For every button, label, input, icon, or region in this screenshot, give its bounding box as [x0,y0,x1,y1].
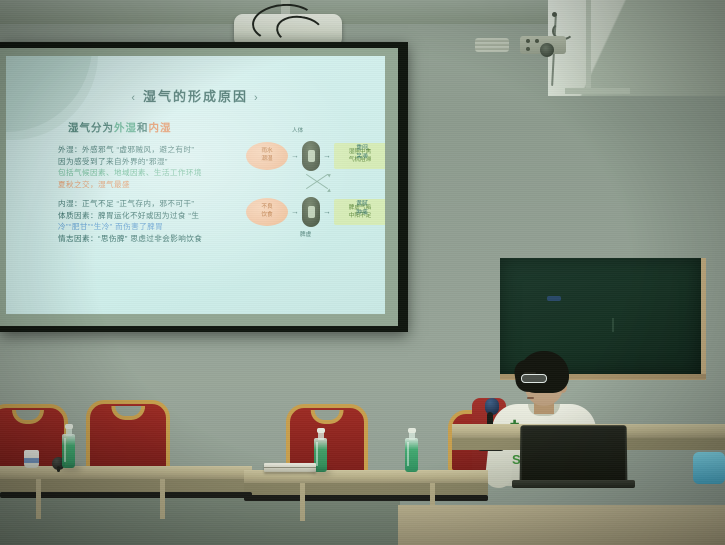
cross-arrow-a-tip [327,189,332,194]
person-glasses [521,374,547,383]
water-bottle-1 [62,424,75,468]
title-bracket-left: ‹ [125,92,143,104]
bottle-3-cap [408,428,416,433]
projector-led-2 [535,39,539,43]
bottle-2-highlight [316,442,318,466]
diagram-source-diet: 不良 饮食 [246,198,288,226]
title-bracket-right: › [248,92,266,104]
projector-led-1 [526,39,530,43]
projector-lens [540,43,554,57]
title-text: 湿气的形成原因 [143,89,248,104]
paper-cup [24,450,39,468]
diagram-arrow-4: → [323,208,331,216]
person-mouth [527,397,534,399]
diagram-arrow-3: → [291,208,299,216]
result-1-line-1: 重闷 [347,144,377,153]
cross-arrow-b-tip [327,173,332,178]
inner-damp-paragraph: 内湿：正气不足 “正气存内，邪不可干” 体质因素：脾胃运化不好或因为过食 “生 … [58,198,248,244]
outer-damp-line-4: 夏秋之交，湿气最盛 [58,179,243,191]
projected-slide: ‹湿气的形成原因› 湿气分为外湿和内湿 外湿：外感邪气 “虚邪贼风，避之有时” … [6,56,385,314]
slide-subheading: 湿气分为外湿和内湿 [68,120,172,135]
inner-damp-line-4: 情志因素：“思伤脾” 思虑过非会影响饮食 [58,233,248,245]
diagram-result-1: 重闷 呆滞 [347,144,377,161]
diagram-result-2: 黄腻 肿痛 [347,200,377,217]
outer-damp-line-2: 因为感受到了来自外界的“邪湿” [58,156,243,168]
result-2-line-2: 肿痛 [347,209,377,218]
diagram-body-label: 人体 [292,126,303,134]
slide-title: ‹湿气的形成原因› [6,86,385,105]
subheading-prefix: 湿气分为 [68,122,114,134]
laptop-screen [520,425,628,482]
outer-damp-line-3: 包括气候因素、地域因素、生活工作环境 [58,167,243,179]
classroom-photo: ‹湿气的形成原因› 湿气分为外湿和内湿 外湿：外感邪气 “虚邪贼风，避之有时” … [0,0,725,545]
bottle-2-cap [317,428,325,433]
blackboard-chalk-mark [612,318,614,332]
blue-bag [693,452,725,484]
source-rain-line-1: 雨水 [261,148,272,156]
beam-post [586,0,591,92]
desk-middle-bar [244,495,488,501]
desk-leg-2 [160,479,165,519]
projector-vent [475,38,509,52]
bottle-1-neck [66,428,72,436]
projector-led-3 [526,47,530,51]
inner-damp-line-3: 冷”“肥甘”“生冷” 而伤害了脾胃 [58,221,248,233]
ceiling-beam [548,0,725,96]
result-1-line-2: 呆滞 [347,153,377,162]
chair-center-left [86,400,170,474]
subheading-inner: 内湿 [149,122,172,134]
subheading-outer: 外湿 [114,122,137,134]
diagram-source-rain: 雨水 潮湿 [246,142,288,170]
desk-leg-1 [36,479,41,519]
bottle-3-highlight [407,442,409,466]
diagram-arrow-1: → [291,152,299,160]
bottle-2-shadow [312,470,332,475]
paper-stack-line [264,467,316,468]
laptop-base [512,480,635,488]
diagram-arrow-2: → [323,152,331,160]
paper-stack [264,463,316,472]
beam-foot [565,88,630,94]
bottle-1-shadow [60,466,82,471]
desk-leg-3 [300,483,305,521]
source-diet-line-1: 不良 [261,204,272,212]
bottle-3-neck [409,432,415,440]
diagram-body-icon-2 [302,197,320,227]
outer-damp-line-1: 外湿：外感邪气 “虚邪贼风，避之有时” [58,144,243,156]
water-bottle-3 [405,428,418,472]
wall-screw [552,12,557,17]
blackboard-magnet [547,296,561,301]
cup-band [24,458,39,463]
desk-front-left [0,466,252,479]
diagram-spleen-label: 脾虚 [300,230,311,238]
bottle-2-neck [318,432,324,440]
diagram-body-icon-1 [302,141,320,171]
bottle-1-cap [65,424,73,429]
subheading-mid: 和 [137,122,149,134]
source-rain-line-2: 潮湿 [261,156,272,164]
desk-foreground [398,505,725,545]
bottle-1-highlight [64,438,66,462]
outer-damp-paragraph: 外湿：外感邪气 “虚邪贼风，避之有时” 因为感受到了来自外界的“邪湿” 包括气候… [58,144,243,190]
desk-middle-apron [244,483,488,495]
result-2-line-1: 黄腻 [347,200,377,209]
inner-damp-line-1: 内湿：正气不足 “正气存内，邪不可干” [58,198,248,210]
inner-damp-line-2: 体质因素：脾胃运化不好或因为过食 “生 [58,210,248,222]
source-diet-line-2: 饮食 [261,212,272,220]
